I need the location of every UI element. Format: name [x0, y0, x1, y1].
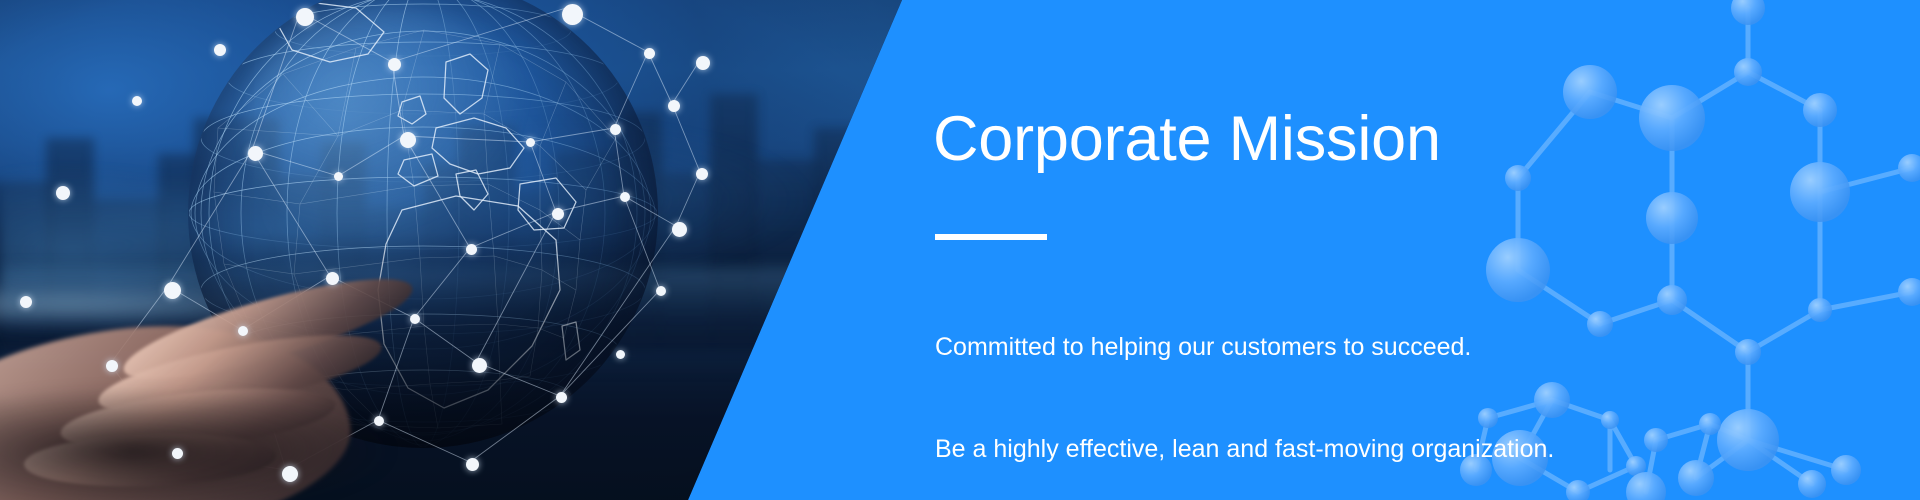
- mission-line: Committed to helping our customers to su…: [935, 330, 1577, 364]
- title-divider-rule: [935, 234, 1047, 240]
- mission-statement-list: Committed to helping our customers to su…: [935, 262, 1577, 500]
- hero-photo: [0, 0, 910, 500]
- page-title: Corporate Mission: [933, 108, 1441, 171]
- mission-line: Be a highly effective, lean and fast-mov…: [935, 432, 1577, 466]
- photo-vignette: [0, 0, 910, 500]
- corporate-mission-banner: Corporate Mission Committed to helping o…: [0, 0, 1920, 500]
- mission-content: Corporate Mission Committed to helping o…: [933, 0, 1633, 500]
